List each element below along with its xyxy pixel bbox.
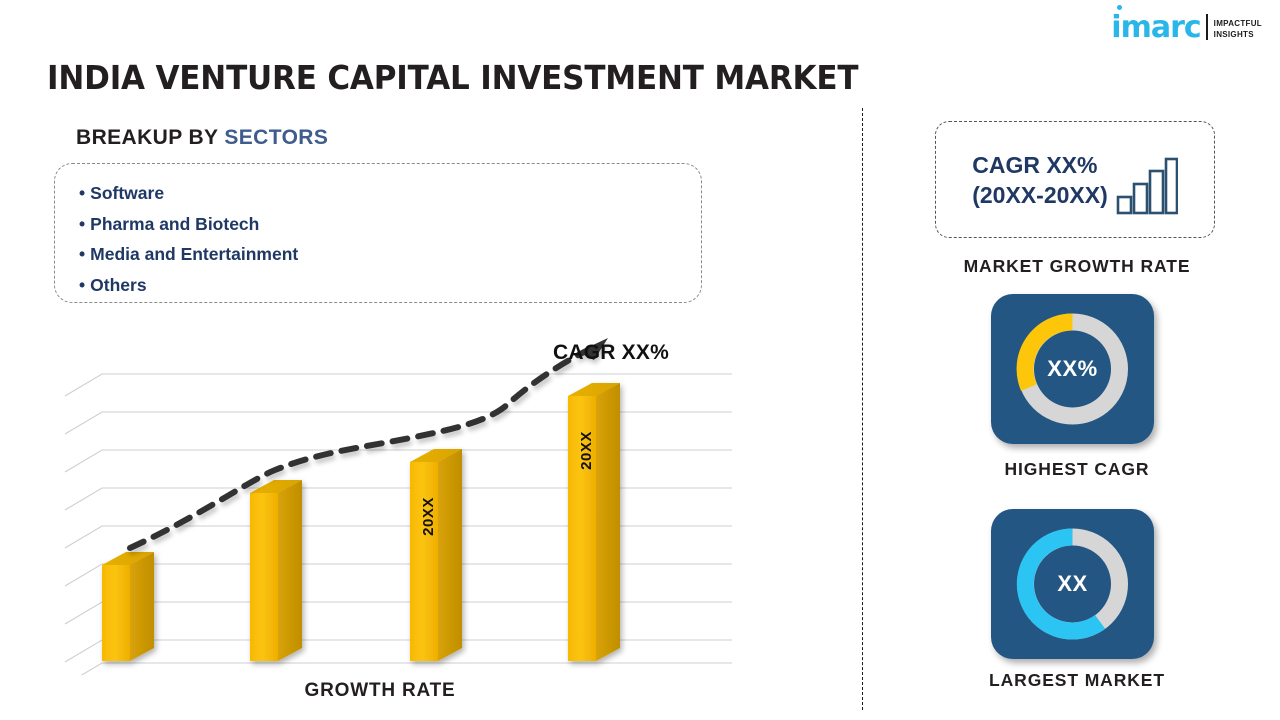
bar-label-4: 20XX	[578, 431, 595, 470]
breakup-heading-prefix: BREAKUP BY	[76, 126, 218, 149]
list-item: •Others	[79, 270, 701, 301]
bar-label-3: 20XX	[420, 497, 437, 536]
highest-cagr-tile: XX%	[991, 294, 1154, 444]
list-item: •Software	[79, 178, 701, 209]
logo-tagline: IMPACTFUL INSIGHTS	[1214, 18, 1262, 42]
bar-2	[250, 480, 302, 661]
growth-rate-bar-chart: 20XX 20XX	[60, 330, 760, 675]
logo-word: imarc	[1111, 14, 1200, 42]
logo-tagline-line2: INSIGHTS	[1214, 29, 1262, 40]
market-growth-rate-box: CAGR XX% (20XX-20XX)	[935, 121, 1215, 238]
largest-market-caption: LARGEST MARKET	[867, 670, 1280, 691]
largest-market-tile: XX	[991, 509, 1154, 659]
sector-label: Pharma and Biotech	[90, 214, 259, 234]
list-item: •Pharma and Biotech	[79, 209, 701, 240]
sectors-box: •Software •Pharma and Biotech •Media and…	[54, 163, 702, 303]
breakup-heading: BREAKUP BY SECTORS	[76, 126, 328, 150]
sector-label: Software	[90, 183, 164, 203]
trend-line	[130, 338, 608, 548]
sector-label: Media and Entertainment	[90, 244, 298, 264]
chart-cagr-callout: CAGR XX%	[553, 341, 669, 365]
highest-cagr-value: XX%	[991, 294, 1154, 444]
bar-4	[568, 383, 620, 661]
logo-wordmark: imarc	[1111, 14, 1200, 42]
page-title: INDIA VENTURE CAPITAL INVESTMENT MARKET	[47, 58, 858, 97]
chart-x-axis-label: GROWTH RATE	[0, 680, 760, 702]
infographic-page: imarc IMPACTFUL INSIGHTS INDIA VENTURE C…	[0, 0, 1280, 720]
bar-1	[102, 552, 154, 661]
vertical-divider	[862, 108, 863, 710]
bar-3	[410, 449, 462, 661]
logo-tagline-line1: IMPACTFUL	[1214, 18, 1262, 29]
bar-chart-svg	[60, 330, 760, 675]
cagr-box-text: CAGR XX% (20XX-20XX)	[972, 150, 1108, 210]
bullet-icon: •	[79, 244, 85, 264]
cagr-box-line2: (20XX-20XX)	[972, 180, 1108, 210]
logo-divider	[1206, 14, 1208, 40]
bullet-icon: •	[79, 275, 85, 295]
cagr-box-line1: CAGR XX%	[972, 150, 1108, 180]
chart-gridlines	[65, 374, 732, 675]
imarc-logo: imarc IMPACTFUL INSIGHTS	[1111, 14, 1262, 42]
market-growth-rate-caption: MARKET GROWTH RATE	[867, 256, 1280, 277]
largest-market-value: XX	[991, 509, 1154, 659]
sector-label: Others	[90, 275, 146, 295]
breakup-heading-accent: SECTORS	[224, 126, 328, 149]
bullet-icon: •	[79, 214, 85, 234]
bullet-icon: •	[79, 183, 85, 203]
highest-cagr-caption: HIGHEST CAGR	[867, 459, 1280, 480]
list-item: •Media and Entertainment	[79, 239, 701, 270]
bar-chart-icon	[1116, 157, 1178, 215]
